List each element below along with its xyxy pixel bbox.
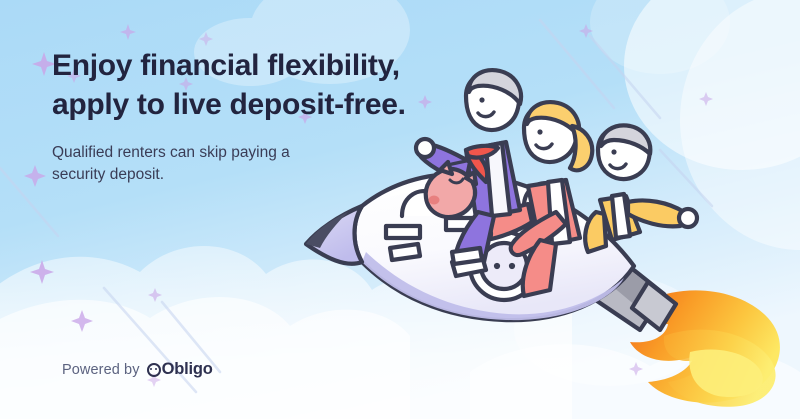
obligo-wordmark: Obligo xyxy=(162,360,213,379)
copy-block: Enjoy financial flexibility, apply to li… xyxy=(52,46,452,187)
page-title: Enjoy financial flexibility, apply to li… xyxy=(52,46,452,124)
obligo-logo: Obligo xyxy=(147,360,213,379)
rider-yellow xyxy=(585,125,697,252)
rocket-nose-cone xyxy=(306,206,362,264)
obligo-ring-icon xyxy=(147,363,161,377)
page-subtitle: Qualified renters can skip paying a secu… xyxy=(52,142,452,187)
promo-banner: Enjoy financial flexibility, apply to li… xyxy=(0,0,800,419)
powered-by-label: Powered by xyxy=(62,362,140,378)
powered-by-footer: Powered by Obligo xyxy=(62,360,213,379)
